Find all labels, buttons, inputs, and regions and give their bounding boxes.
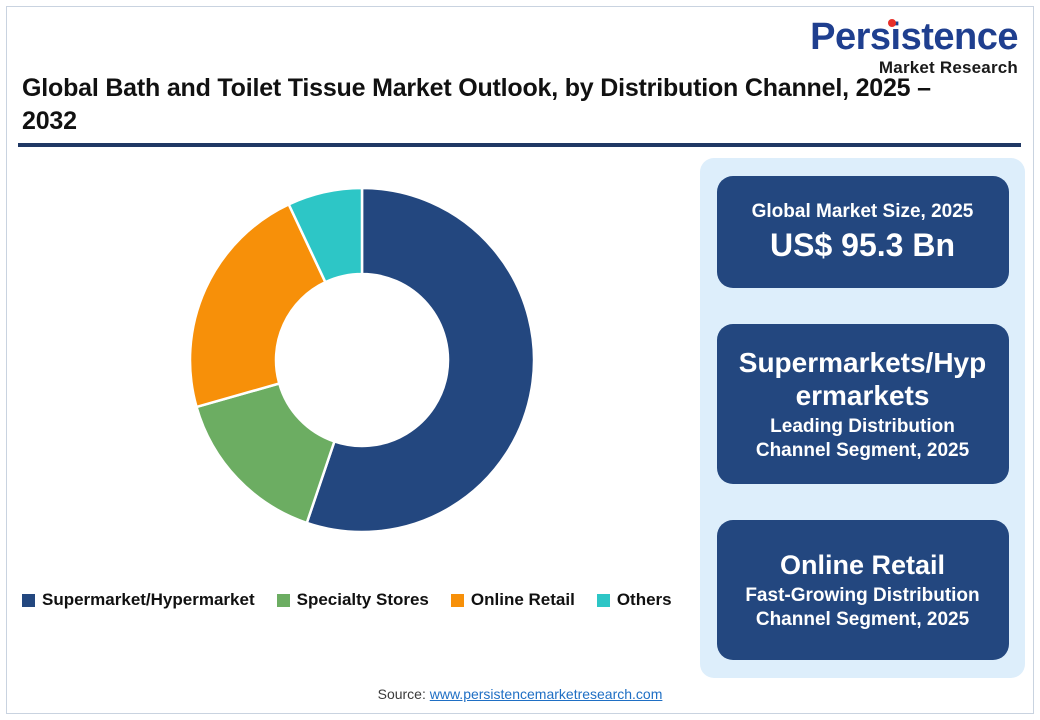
source-footer: Source: www.persistencemarketresearch.co…: [0, 686, 1040, 702]
brand-name: Persistence: [810, 18, 1018, 56]
legend-label: Others: [617, 590, 672, 610]
legend-item[interactable]: Others: [597, 590, 672, 610]
highlights-panel: Global Market Size, 2025 US$ 95.3 Bn Sup…: [700, 158, 1025, 678]
legend-item[interactable]: Specialty Stores: [277, 590, 429, 610]
leading-segment-name: Supermarkets/Hypermarkets: [739, 346, 987, 412]
chart-container: Supermarket/HypermarketSpecialty StoresO…: [20, 155, 690, 635]
brand-logo: Persistence Market Research: [810, 18, 1018, 76]
leading-segment-sub-line-2: Channel Segment, 2025: [756, 439, 969, 463]
legend-swatch-icon: [277, 594, 290, 607]
source-label: Source:: [378, 686, 426, 702]
donut-chart: [187, 185, 537, 535]
stat-card-fast-growing-segment: Online Retail Fast-Growing Distribution …: [717, 520, 1009, 660]
page-title: Global Bath and Toilet Tissue Market Out…: [22, 72, 972, 138]
stat-card-leading-segment: Supermarkets/Hypermarkets Leading Distri…: [717, 324, 1009, 484]
fast-growing-segment-sub-line-2: Channel Segment, 2025: [756, 608, 969, 632]
market-size-value: US$ 95.3 Bn: [770, 226, 955, 264]
legend-label: Online Retail: [471, 590, 575, 610]
leading-segment-sub-line-1: Leading Distribution: [770, 415, 955, 439]
donut-chart-svg: [187, 185, 537, 535]
donut-slice[interactable]: [197, 383, 335, 522]
stat-card-market-size: Global Market Size, 2025 US$ 95.3 Bn: [717, 176, 1009, 288]
fast-growing-segment-name: Online Retail: [780, 549, 945, 581]
title-divider: [18, 143, 1021, 147]
donut-slice-group: [190, 188, 534, 532]
legend-swatch-icon: [451, 594, 464, 607]
legend-label: Supermarket/Hypermarket: [42, 590, 255, 610]
brand-name-text: Persistence: [810, 16, 1018, 58]
legend-item[interactable]: Online Retail: [451, 590, 575, 610]
legend-label: Specialty Stores: [297, 590, 429, 610]
fast-growing-segment-sub-line-1: Fast-Growing Distribution: [745, 584, 979, 608]
legend-item[interactable]: Supermarket/Hypermarket: [22, 590, 255, 610]
source-link[interactable]: www.persistencemarketresearch.com: [430, 686, 663, 702]
infographic-page: Persistence Market Research Global Bath …: [0, 0, 1040, 720]
market-size-label: Global Market Size, 2025: [752, 200, 974, 224]
chart-legend: Supermarket/HypermarketSpecialty StoresO…: [22, 590, 712, 610]
legend-swatch-icon: [597, 594, 610, 607]
legend-swatch-icon: [22, 594, 35, 607]
